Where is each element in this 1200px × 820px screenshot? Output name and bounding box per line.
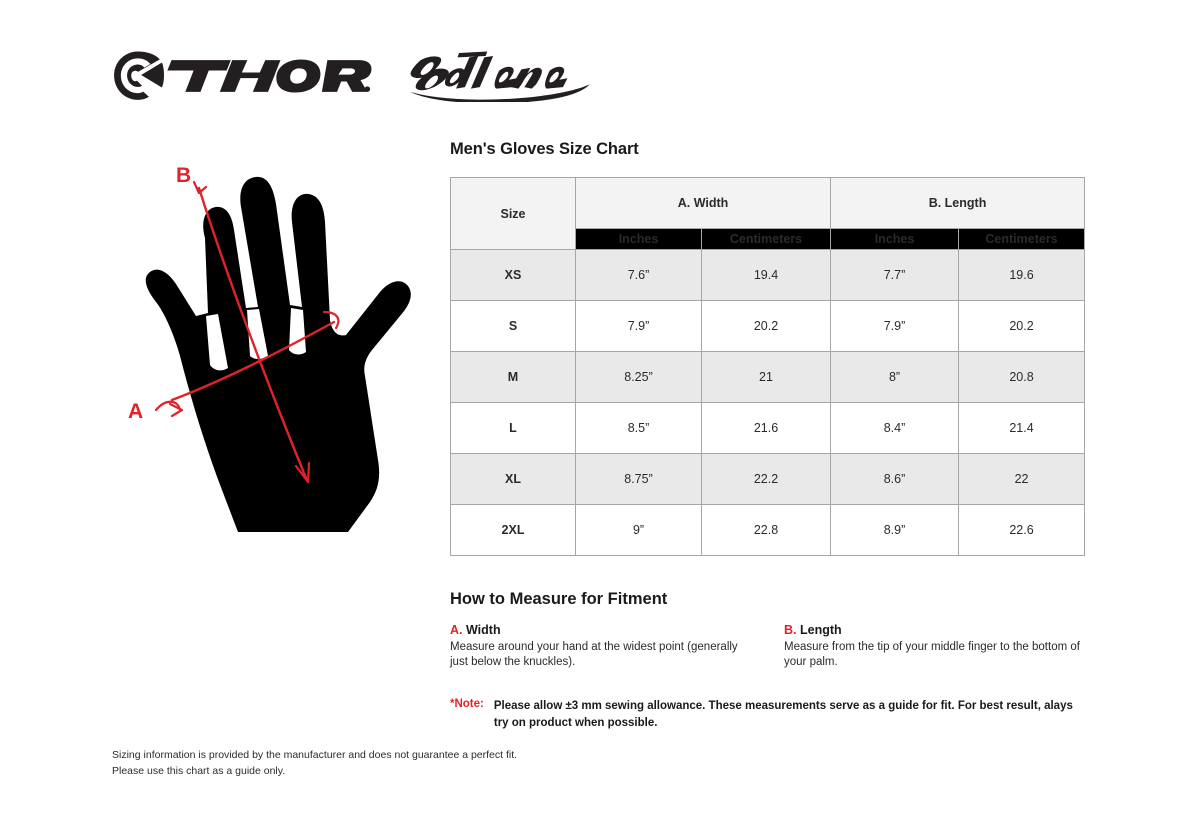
- measure-letter-b: B.: [784, 623, 797, 637]
- measure-item-heading: B. Length: [784, 623, 1082, 637]
- footer-disclaimer: Sizing information is provided by the ma…: [112, 748, 517, 779]
- cell-width-centimeters: 19.4: [702, 250, 831, 301]
- cell-width-centimeters: 21.6: [702, 403, 831, 454]
- column-header-size: Size: [451, 178, 576, 250]
- measure-name-width: Width: [466, 623, 501, 637]
- table-row: M 8.25” 21 8” 20.8: [451, 352, 1085, 403]
- note-text: Please allow ±3 mm sewing allowance. The…: [494, 698, 1074, 731]
- hand-silhouette-shape: [146, 177, 411, 532]
- cell-size: XS: [451, 250, 576, 301]
- table-row: L 8.5” 21.6 8.4” 21.4: [451, 403, 1085, 454]
- cell-width-centimeters: 20.2: [702, 301, 831, 352]
- cell-length-centimeters: 19.6: [959, 250, 1085, 301]
- cell-length-inches: 7.7”: [831, 250, 959, 301]
- measure-item-length: B. Length Measure from the tip of your m…: [784, 623, 1082, 670]
- glove-diagram-svg: B A: [110, 160, 440, 550]
- table-row: XL 8.75” 22.2 8.6” 22: [451, 454, 1085, 505]
- table-header-row-groups: Size A. Width B. Length: [451, 178, 1085, 229]
- glove-measurement-diagram: B A: [110, 160, 440, 550]
- cell-length-inches: 8.4”: [831, 403, 959, 454]
- thor-logo: [112, 50, 373, 102]
- cell-width-inches: 7.6”: [576, 250, 702, 301]
- cell-length-centimeters: 21.4: [959, 403, 1085, 454]
- cell-width-centimeters: 21: [702, 352, 831, 403]
- footer-line-1: Sizing information is provided by the ma…: [112, 748, 517, 764]
- measure-description-length: Measure from the tip of your middle fing…: [784, 640, 1082, 670]
- cell-size: XL: [451, 454, 576, 505]
- measure-item-width: A. Width Measure around your hand at the…: [450, 623, 748, 670]
- thor-helmet-icon: [112, 50, 164, 102]
- measure-name-length: Length: [800, 623, 842, 637]
- diagram-label-b: B: [176, 164, 191, 187]
- cell-length-inches: 8.9”: [831, 505, 959, 556]
- how-to-measure-title: How to Measure for Fitment: [450, 590, 1084, 609]
- note-label: *Note:: [450, 698, 484, 731]
- cell-width-inches: 8.25”: [576, 352, 702, 403]
- cell-width-centimeters: 22.2: [702, 454, 831, 505]
- table-row: XS 7.6” 19.4 7.7” 19.6: [451, 250, 1085, 301]
- cell-size: L: [451, 403, 576, 454]
- cell-width-inches: 7.9”: [576, 301, 702, 352]
- table-body: XS 7.6” 19.4 7.7” 19.6 S 7.9” 20.2 7.9” …: [451, 250, 1085, 556]
- measure-letter-a: A.: [450, 623, 463, 637]
- size-chart-table: Size A. Width B. Length Inches Centimete…: [450, 177, 1085, 556]
- measure-description-width: Measure around your hand at the widest p…: [450, 640, 748, 670]
- size-chart-content: Men's Gloves Size Chart Size A. Width B.…: [450, 140, 1084, 731]
- cell-size: 2XL: [451, 505, 576, 556]
- table-row: 2XL 9” 22.8 8.9” 22.6: [451, 505, 1085, 556]
- cell-length-inches: 7.9”: [831, 301, 959, 352]
- cell-size: S: [451, 301, 576, 352]
- column-header-length-centimeters: Centimeters: [959, 229, 1085, 250]
- footer-line-2: Please use this chart as a guide only.: [112, 764, 517, 780]
- column-group-width: A. Width: [576, 178, 831, 229]
- table-head: Size A. Width B. Length Inches Centimete…: [451, 178, 1085, 250]
- thor-wordmark: [166, 56, 373, 96]
- column-group-length: B. Length: [831, 178, 1085, 229]
- cell-size: M: [451, 352, 576, 403]
- column-header-length-inches: Inches: [831, 229, 959, 250]
- cell-width-inches: 8.5”: [576, 403, 702, 454]
- brand-logo-bar: [112, 50, 593, 102]
- measure-item-heading: A. Width: [450, 623, 748, 637]
- cell-width-centimeters: 22.8: [702, 505, 831, 556]
- cell-length-inches: 8.6”: [831, 454, 959, 505]
- cell-length-centimeters: 22.6: [959, 505, 1085, 556]
- how-to-measure-section: How to Measure for Fitment A. Width Meas…: [450, 590, 1084, 670]
- cell-length-inches: 8”: [831, 352, 959, 403]
- cell-length-centimeters: 20.2: [959, 301, 1085, 352]
- cell-length-centimeters: 20.8: [959, 352, 1085, 403]
- column-header-width-centimeters: Centimeters: [702, 229, 831, 250]
- cell-width-inches: 8.75”: [576, 454, 702, 505]
- hallman-wordmark: [407, 50, 593, 102]
- table-row: S 7.9” 20.2 7.9” 20.2: [451, 301, 1085, 352]
- diagram-label-a: A: [128, 400, 143, 423]
- cell-width-inches: 9”: [576, 505, 702, 556]
- column-header-width-inches: Inches: [576, 229, 702, 250]
- page-title: Men's Gloves Size Chart: [450, 140, 1084, 159]
- cell-length-centimeters: 22: [959, 454, 1085, 505]
- note-block: *Note: Please allow ±3 mm sewing allowan…: [450, 698, 1084, 731]
